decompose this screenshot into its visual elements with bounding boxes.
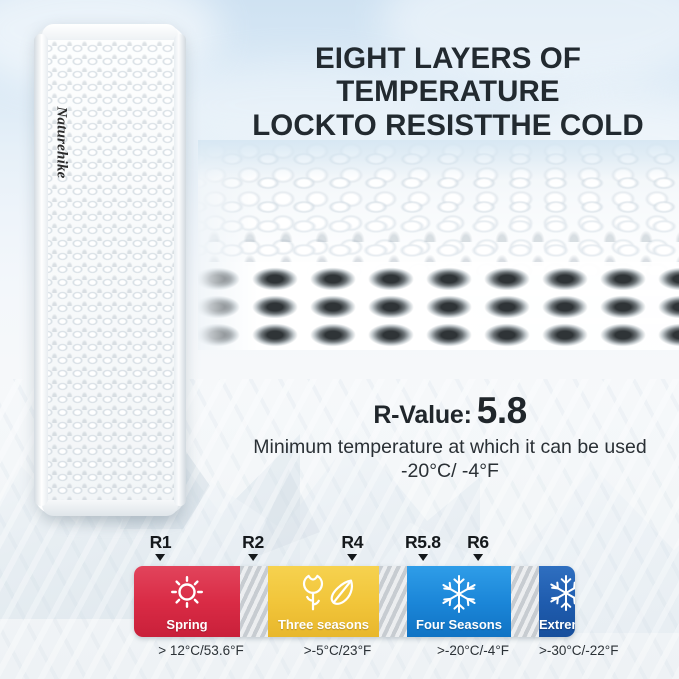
r-value-subtitle-line-1: Minimum temperature at which it can be u… [253, 436, 646, 458]
headline-line-2: LOCKTO RESISTTHE COLD [226, 109, 670, 142]
scale-marker-r4: R4 [341, 534, 363, 561]
season-segment-label: Three seasons [278, 617, 369, 632]
temperature-range: > 12°C/53.6°F [134, 643, 268, 658]
marker-triangle-icon [248, 554, 258, 561]
scale-marker-r1: R1 [150, 534, 172, 561]
pad-left-baffle [34, 34, 48, 506]
scale-gap-hatched [240, 566, 268, 637]
scale-gap-hatched [511, 566, 539, 637]
season-rating-bar: Spring Three seasons [134, 566, 575, 637]
scale-marker-r6: R6 [467, 534, 489, 561]
marker-triangle-icon [347, 554, 357, 561]
pad-bottom-edge [42, 500, 178, 516]
season-segment-label: Spring [166, 617, 207, 632]
scale-marker-r2: R2 [242, 534, 264, 561]
season-segment-label: Extreme Cold [539, 617, 575, 632]
season-segment-four-seasons: Four Seasons [407, 566, 511, 637]
marker-triangle-icon [418, 554, 428, 561]
scale-gap-hatched [379, 566, 407, 637]
scale-marker-label: R2 [242, 534, 264, 552]
temperature-range: >-20°C/-4°F [407, 643, 539, 658]
scale-markers: R1 R2 R4 R5.8 R6 [134, 534, 575, 566]
brand-logo: Naturehike [52, 102, 70, 182]
eight-layer-cutaway-illustration [198, 140, 679, 350]
r-value-subtitle-line-2: -20°C/ -4°F [401, 460, 499, 482]
r-value-callout: R-Value: 5.8 Minimum temperature at whic… [228, 392, 672, 484]
temperature-range-labels: > 12°C/53.6°F >-5°C/23°F >-20°C/-4°F >-3… [134, 643, 575, 658]
scale-marker-label: R1 [150, 534, 172, 552]
quilt-row [198, 216, 679, 242]
scale-marker-label: R4 [341, 534, 363, 552]
marker-triangle-icon [473, 554, 483, 561]
season-segment-extreme-cold: Extreme Cold [539, 566, 575, 637]
stack-top-fade [198, 140, 679, 180]
r-value-subtitle: Minimum temperature at which it can be u… [228, 436, 672, 484]
pad-right-baffle [174, 34, 186, 506]
scale-marker-label: R5.8 [405, 534, 441, 552]
headline-line-1: EIGHT LAYERS OF TEMPERATURE [315, 42, 581, 108]
snowflakes-trio-icon [542, 573, 575, 622]
temperature-range: >-30°C/-22°F [539, 643, 618, 658]
headline: EIGHT LAYERS OF TEMPERATURE LOCKTO RESIS… [226, 42, 670, 142]
pad-body: Naturehike [34, 24, 186, 516]
season-segment-spring: Spring [134, 566, 240, 637]
r-value-number: 5.8 [477, 392, 527, 429]
temperature-range: >-5°C/23°F [268, 643, 407, 658]
marker-triangle-icon [155, 554, 165, 561]
brand-logo-text: Naturehike [53, 106, 70, 178]
scale-marker-label: R6 [467, 534, 489, 552]
r-value-line: R-Value: 5.8 [228, 392, 672, 430]
r-value-label: R-Value: [373, 401, 471, 430]
season-segment-label: Four Seasons [416, 617, 502, 632]
sleeping-pad-product-image: Naturehike [34, 24, 186, 516]
insulation-wave-layer [198, 318, 679, 350]
scale-marker-r58: R5.8 [405, 534, 441, 561]
season-segment-three-seasons: Three seasons [268, 566, 379, 637]
product-feature-graphic: Naturehike EIGHT LAYERS OF TEMPERATURE L… [0, 0, 679, 679]
tulip-leaf-icon [290, 573, 358, 618]
r-value-scale: R1 R2 R4 R5.8 R6 [134, 534, 575, 658]
pad-top-edge [42, 24, 178, 40]
snowflake-icon [437, 573, 481, 620]
sun-icon [167, 573, 207, 616]
